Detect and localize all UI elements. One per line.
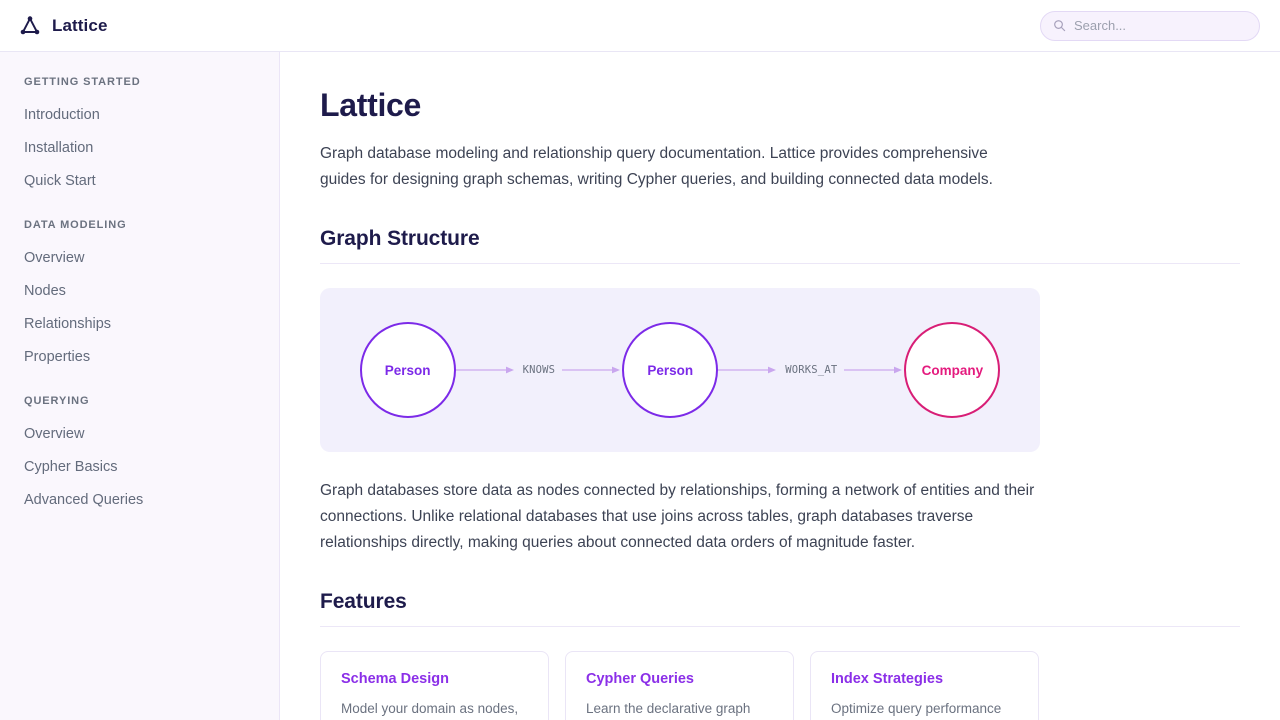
sidebar-item-quick-start[interactable]: Quick Start (0, 165, 279, 198)
sidebar: GETTING STARTED Introduction Installatio… (0, 52, 280, 720)
sidebar-item-relationships[interactable]: Relationships (0, 308, 279, 341)
sidebar-item-installation[interactable]: Installation (0, 132, 279, 165)
search-placeholder: Search... (1074, 19, 1126, 32)
search-icon (1053, 19, 1066, 32)
graph-edge-knows: KNOWS (456, 364, 623, 376)
nav-section-title: GETTING STARTED (0, 76, 279, 88)
sidebar-item-properties[interactable]: Properties (0, 341, 279, 374)
feature-card-title: Index Strategies (831, 671, 1018, 687)
graph-structure-body: Graph databases store data as nodes conn… (320, 478, 1035, 556)
brand[interactable]: Lattice (18, 14, 108, 38)
graph-edge-label: WORKS_AT (778, 364, 844, 376)
feature-card-text: Optimize query performance with composit… (831, 698, 1018, 720)
graph-node-label: Person (385, 363, 431, 378)
page-lead-paragraph: Graph database modeling and relationship… (320, 141, 1035, 193)
nav-section-data-modeling: DATA MODELING Overview Nodes Relationshi… (0, 219, 279, 374)
sidebar-item-cypher-basics[interactable]: Cypher Basics (0, 451, 279, 484)
sidebar-item-advanced-queries[interactable]: Advanced Queries (0, 484, 279, 517)
sidebar-item-overview-querying[interactable]: Overview (0, 418, 279, 451)
feature-card-text: Model your domain as nodes, relationship… (341, 698, 528, 720)
graph-triangle-icon (18, 14, 42, 38)
graph-diagram: Person KNOWS Person (320, 288, 1040, 452)
graph-node-person-2[interactable]: Person (622, 322, 718, 418)
graph-node-label: Company (922, 363, 984, 378)
top-bar: Lattice Search... (0, 0, 1280, 52)
nav-section-querying: QUERYING Overview Cypher Basics Advanced… (0, 395, 279, 517)
brand-name: Lattice (52, 16, 108, 36)
arrow-right-icon (456, 365, 516, 375)
feature-card-title: Schema Design (341, 671, 528, 687)
feature-card-index-strategies[interactable]: Index Strategies Optimize query performa… (810, 651, 1039, 720)
graph-node-label: Person (647, 363, 693, 378)
nav-section-title: QUERYING (0, 395, 279, 407)
feature-card-schema-design[interactable]: Schema Design Model your domain as nodes… (320, 651, 549, 720)
sidebar-item-nodes[interactable]: Nodes (0, 275, 279, 308)
page-title: Lattice (320, 88, 1240, 123)
arrow-right-icon (844, 365, 904, 375)
arrow-right-icon (718, 365, 778, 375)
section-heading-features: Features (320, 590, 1240, 627)
sidebar-item-introduction[interactable]: Introduction (0, 99, 279, 132)
section-heading-graph-structure: Graph Structure (320, 227, 1240, 264)
search-input[interactable]: Search... (1040, 11, 1260, 41)
nav-section-title: DATA MODELING (0, 219, 279, 231)
main-content: Lattice Graph database modeling and rela… (280, 52, 1280, 720)
graph-node-person-1[interactable]: Person (360, 322, 456, 418)
graph-edge-works-at: WORKS_AT (718, 364, 904, 376)
feature-card-cypher-queries[interactable]: Cypher Queries Learn the declarative gra… (565, 651, 794, 720)
feature-card-list: Schema Design Model your domain as nodes… (320, 651, 1240, 720)
graph-edge-label: KNOWS (516, 364, 563, 376)
graph-node-company[interactable]: Company (904, 322, 1000, 418)
arrow-right-icon (562, 365, 622, 375)
nav-section-getting-started: GETTING STARTED Introduction Installatio… (0, 76, 279, 198)
graph-diagram-row: Person KNOWS Person (360, 322, 1001, 418)
sidebar-item-overview-modeling[interactable]: Overview (0, 242, 279, 275)
feature-card-text: Learn the declarative graph query langua… (586, 698, 773, 720)
feature-card-title: Cypher Queries (586, 671, 773, 687)
